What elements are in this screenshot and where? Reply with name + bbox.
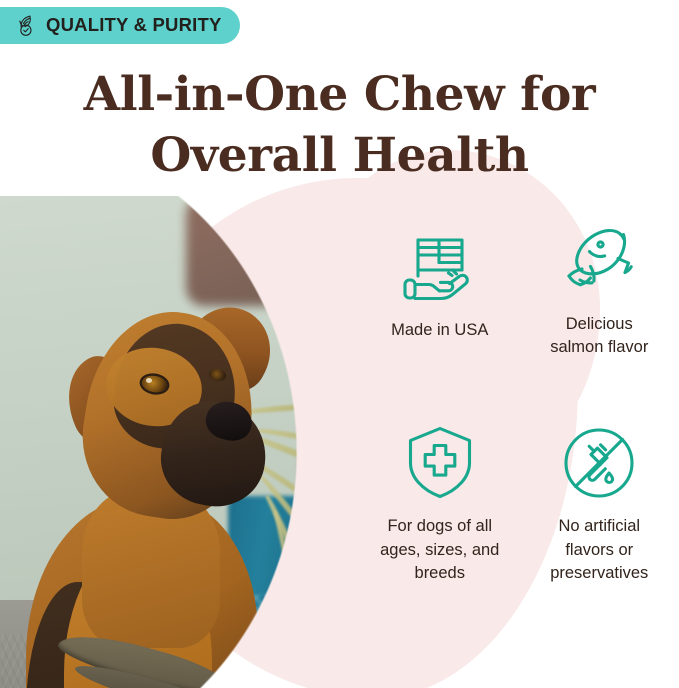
feature-label: No artificial flavors or preservatives bbox=[550, 515, 648, 585]
page-title: All-in-One Chew for Overall Health bbox=[0, 64, 679, 186]
hand-holding-flag-icon bbox=[397, 228, 483, 306]
feature-label-line: No artificial bbox=[558, 517, 640, 535]
leaf-check-icon bbox=[14, 14, 37, 38]
feature-label-line: flavors or bbox=[565, 541, 633, 559]
feature-label-line: preservatives bbox=[550, 564, 648, 582]
badge-label: QUALITY & PURITY bbox=[46, 16, 222, 35]
feature-grid: Made in USA Delicious salmon flavor bbox=[360, 222, 679, 602]
feature-label-line: Delicious bbox=[566, 315, 633, 333]
feature-label: For dogs of all ages, sizes, and breeds bbox=[380, 515, 499, 585]
headline-line-1: All-in-One Chew for bbox=[84, 67, 596, 122]
quality-purity-badge: QUALITY & PURITY bbox=[0, 7, 240, 44]
shield-cross-icon bbox=[397, 422, 483, 502]
photo-scene: Skin & Coat FISH OMEGA 3-6-9 FOR SKIN, F… bbox=[0, 196, 369, 688]
feature-label-line: For dogs of all bbox=[387, 517, 492, 535]
feature-label: Delicious salmon flavor bbox=[550, 313, 648, 360]
no-dropper-icon bbox=[559, 424, 639, 502]
dog-eye-highlight bbox=[146, 378, 152, 383]
feature-label-line: ages, sizes, and bbox=[380, 541, 499, 559]
feature-label-line: breeds bbox=[415, 564, 465, 582]
feature-label-line: salmon flavor bbox=[550, 338, 648, 356]
headline-line-2: Overall Health bbox=[0, 125, 679, 186]
feature-made-in-usa: Made in USA bbox=[360, 222, 520, 376]
feature-no-artificial: No artificial flavors or preservatives bbox=[520, 418, 679, 602]
feature-salmon-flavor: Delicious salmon flavor bbox=[520, 222, 679, 376]
dog-product-photo: Skin & Coat FISH OMEGA 3-6-9 FOR SKIN, F… bbox=[0, 196, 369, 688]
product-feature-banner: Skin & Coat FISH OMEGA 3-6-9 FOR SKIN, F… bbox=[0, 0, 679, 688]
feature-label: Made in USA bbox=[391, 319, 488, 342]
feature-label-line: Made in USA bbox=[391, 321, 488, 339]
feature-all-dogs: For dogs of all ages, sizes, and breeds bbox=[360, 418, 520, 602]
fish-icon bbox=[556, 222, 642, 300]
photo-dog bbox=[20, 252, 310, 688]
